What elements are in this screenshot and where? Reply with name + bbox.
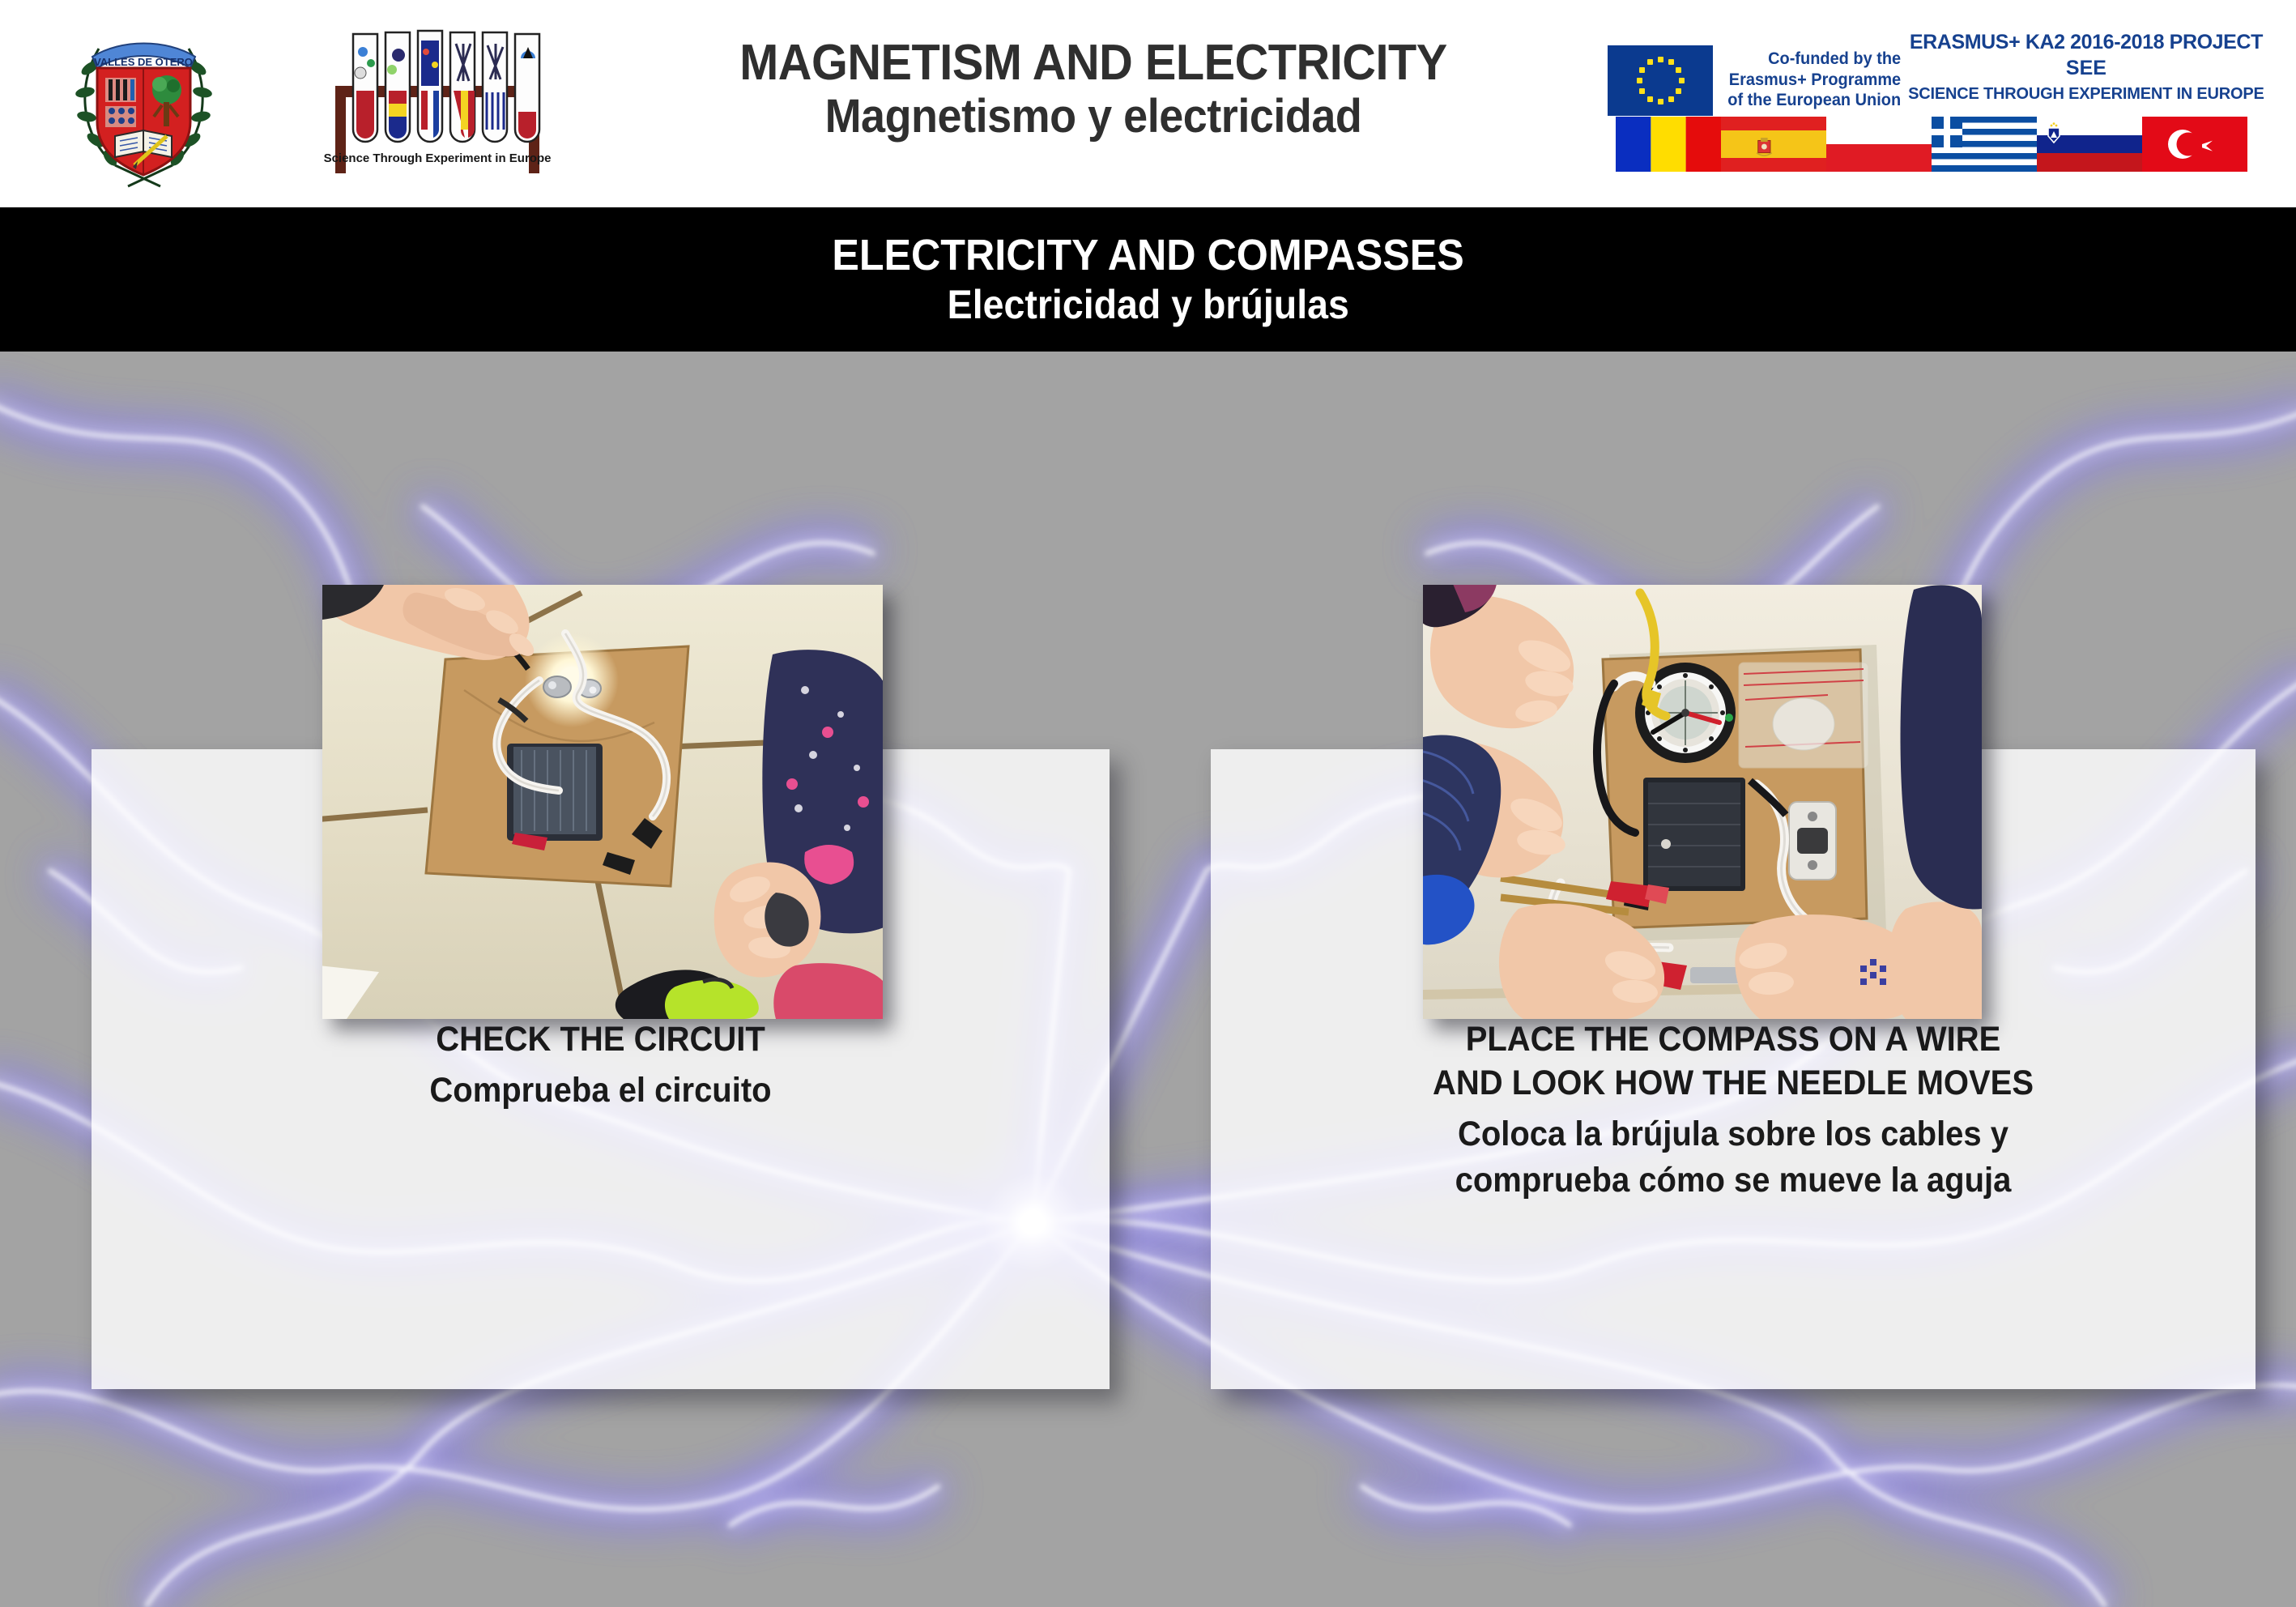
banner-title-es: Electricidad y brújulas: [947, 283, 1348, 326]
step-02-text-es-line2: comprueba cómo se mueve la aguja: [1247, 1158, 2219, 1203]
step-01-photo: [322, 585, 883, 1019]
flag-greece: [1932, 117, 2037, 172]
svg-text:VALLES DE OTERO: VALLES DE OTERO: [94, 56, 193, 68]
banner-title-en: ELECTRICITY AND COMPASSES: [832, 233, 1463, 277]
project-title-text: ERASMUS+ KA2 2016-2018 PROJECT SEE SCIEN…: [1908, 31, 2264, 104]
step-02-photo: [1423, 585, 1982, 1019]
section-banner: ELECTRICITY AND COMPASSES Electricidad y…: [0, 207, 2296, 352]
content-stage: 01 CHECK THE CIRCUIT Comprueba el circui…: [0, 352, 2296, 1607]
page-title: MAGNETISM AND ELECTRICITY Magnetismo y e…: [616, 37, 1571, 143]
flag-poland: [1826, 117, 1932, 172]
see-project-logo: Science Through Experiment in Europe: [324, 23, 551, 181]
step-02-text-es-line1: Coloca la brújula sobre los cables y: [1247, 1112, 2219, 1157]
step-01-text-es: Comprueba el circuito: [127, 1068, 1074, 1113]
page-header: VALLES DE OTERO: [0, 0, 2296, 207]
step-02-text-en-line1: PLACE THE COMPASS ON A WIRE: [1247, 1019, 2219, 1061]
flag-romania: [1616, 117, 1721, 172]
page-title-en: MAGNETISM AND ELECTRICITY: [649, 37, 1537, 88]
partner-flags-row: [1616, 117, 2247, 172]
school-crest-logo: VALLES DE OTERO: [65, 15, 223, 189]
flag-slovenia: [2037, 117, 2142, 172]
eu-funding-text: Co-funded by the Erasmus+ Programme of t…: [1727, 49, 1901, 111]
flag-spain: [1721, 117, 1826, 172]
flag-turkey: [2142, 117, 2247, 172]
see-logo-caption: Science Through Experiment in Europe: [324, 151, 551, 165]
page-title-es: Magnetismo y electricidad: [649, 92, 1537, 143]
step-01-text-en: CHECK THE CIRCUIT: [127, 1019, 1074, 1061]
eu-flag-icon: [1608, 45, 1713, 116]
step-02-text-en-line2: AND LOOK HOW THE NEEDLE MOVES: [1247, 1063, 2219, 1105]
